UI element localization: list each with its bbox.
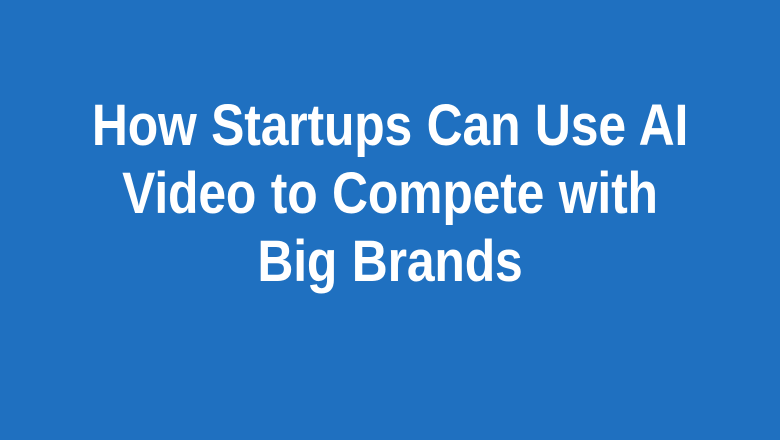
page-title: How Startups Can Use AI Video to Compete… — [75, 92, 705, 296]
headline-block: How Startups Can Use AI Video to Compete… — [0, 92, 780, 296]
blog-header-banner: How Startups Can Use AI Video to Compete… — [0, 0, 780, 440]
